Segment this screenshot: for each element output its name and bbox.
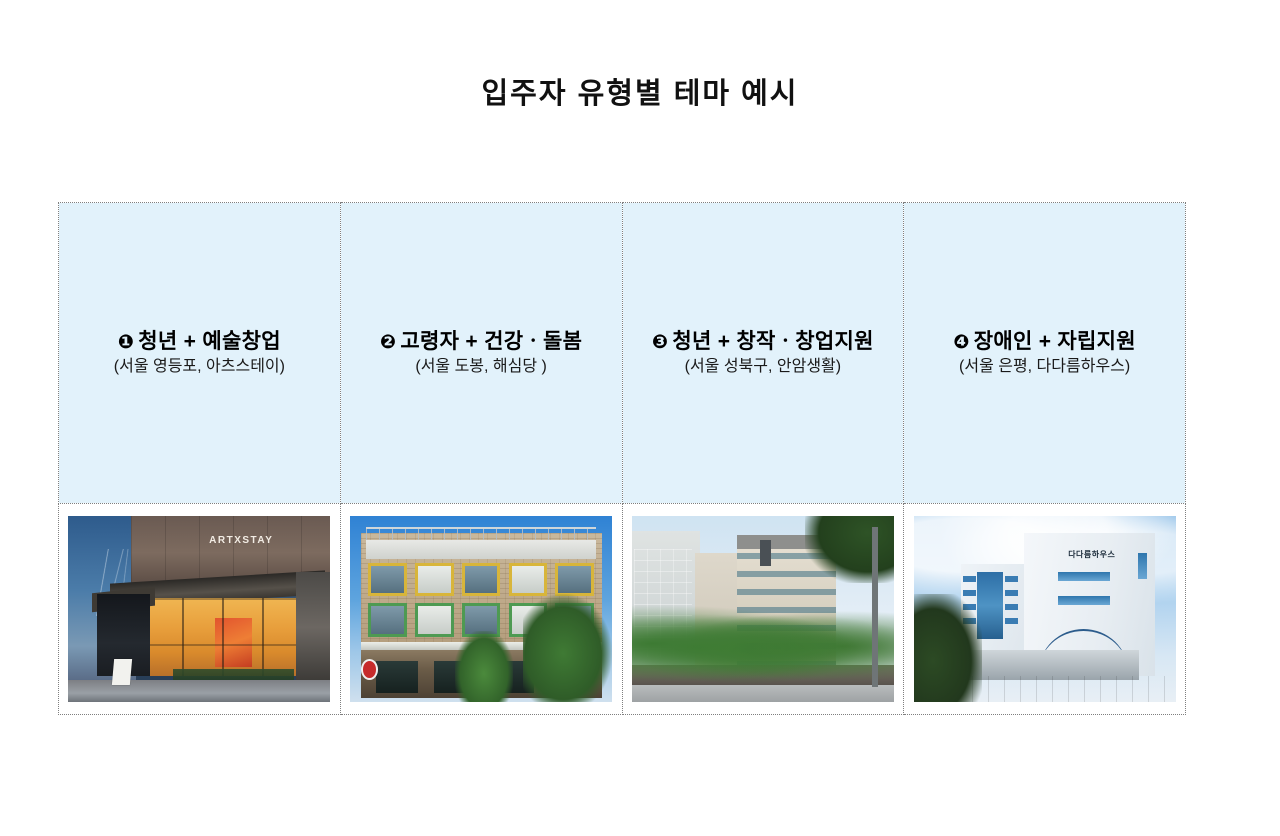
theme-cell-4: ❹장애인 + 자립지원 (서울 은평, 다다름하우스) bbox=[904, 203, 1186, 504]
number-marker-2-icon: ❷ bbox=[380, 332, 396, 353]
photo2-window bbox=[509, 563, 547, 596]
photo-cell-4: 다다름하우스 bbox=[904, 504, 1186, 715]
photo4-vegetation bbox=[914, 594, 982, 702]
theme-content-4: ❹장애인 + 자립지원 (서울 은평, 다다름하우스) bbox=[904, 328, 1185, 379]
photo4-window-slit bbox=[1138, 553, 1147, 579]
theme-title-2: ❷고령자 + 건강ㆍ돌봄 bbox=[380, 330, 582, 353]
photo-row: ARTXSTAY bbox=[59, 504, 1186, 715]
theme-cell-1: ❶청년 + 예술창업 (서울 영등포, 아츠스테이) bbox=[59, 203, 341, 504]
photo2-street-tree bbox=[455, 631, 513, 702]
number-marker-4-icon: ❹ bbox=[953, 332, 969, 353]
theme-location-4: (서울 은평, 다다름하우스) bbox=[959, 358, 1130, 375]
theme-content-2: ❷고령자 + 건강ㆍ돌봄 (서울 도봉, 해심당 ) bbox=[341, 328, 622, 379]
photo2-window-row-upper bbox=[368, 563, 593, 596]
photo2-window bbox=[415, 603, 453, 636]
photo-cell-2 bbox=[340, 504, 622, 715]
photo-cell-3 bbox=[622, 504, 904, 715]
theme-examples-table: ❶청년 + 예술창업 (서울 영등포, 아츠스테이) ❷고령자 + 건강ㆍ돌봄 … bbox=[58, 202, 1186, 715]
photo4-window-slit bbox=[1058, 572, 1110, 581]
building-photo-3 bbox=[632, 516, 894, 702]
photo1-pavement bbox=[68, 680, 330, 702]
theme-title-1: ❶청년 + 예술창업 bbox=[118, 330, 281, 353]
photo3-overhanging-canopy bbox=[805, 516, 894, 583]
photo2-large-tree bbox=[523, 594, 612, 702]
photo2-shop-window bbox=[376, 661, 418, 693]
theme-cell-2: ❷고령자 + 건강ㆍ돌봄 (서울 도봉, 해심당 ) bbox=[340, 203, 622, 504]
building-photo-2 bbox=[350, 516, 612, 702]
photo2-window bbox=[368, 603, 406, 636]
building-photo-4: 다다름하우스 bbox=[914, 516, 1176, 702]
building-photo-1: ARTXSTAY bbox=[68, 516, 330, 702]
photo1-signboard bbox=[112, 659, 133, 685]
photo4-window-slit bbox=[1058, 596, 1110, 605]
theme-heading-2: 고령자 + 건강ㆍ돌봄 bbox=[400, 330, 582, 353]
theme-heading-3: 청년 + 창작ㆍ창업지원 bbox=[672, 330, 873, 353]
theme-location-2: (서울 도봉, 해심당 ) bbox=[415, 358, 546, 375]
photo2-window bbox=[415, 563, 453, 596]
theme-content-1: ❶청년 + 예술창업 (서울 영등포, 아츠스테이) bbox=[59, 328, 340, 379]
page-title: 입주자 유형별 테마 예시 bbox=[0, 70, 1280, 112]
photo3-street-trees bbox=[632, 605, 894, 691]
theme-heading-1: 청년 + 예술창업 bbox=[138, 330, 281, 353]
header-row: ❶청년 + 예술창업 (서울 영등포, 아츠스테이) ❷고령자 + 건강ㆍ돌봄 … bbox=[59, 203, 1186, 504]
number-marker-1-icon: ❶ bbox=[118, 332, 134, 353]
theme-location-1: (서울 영등포, 아츠스테이) bbox=[114, 358, 285, 375]
theme-title-3: ❸청년 + 창작ㆍ창업지원 bbox=[652, 330, 874, 353]
photo2-window bbox=[462, 563, 500, 596]
photo3-street bbox=[632, 685, 894, 702]
theme-cell-3: ❸청년 + 창작ㆍ창업지원 (서울 성북구, 안암생활) bbox=[622, 203, 904, 504]
photo2-window bbox=[555, 563, 593, 596]
photo4-building-logo: 다다름하우스 bbox=[1060, 546, 1123, 563]
photo1-window-mullions bbox=[142, 598, 299, 676]
photo4-window-grid bbox=[1005, 576, 1018, 632]
photo1-building-logo: ARTXSTAY bbox=[184, 529, 299, 551]
photo1-right-wall bbox=[296, 572, 330, 684]
theme-location-3: (서울 성북구, 안암생활) bbox=[685, 358, 841, 375]
photo3-utility-pole bbox=[872, 527, 879, 687]
theme-title-4: ❹장애인 + 자립지원 bbox=[953, 330, 1136, 353]
number-marker-3-icon: ❸ bbox=[652, 332, 668, 353]
photo2-roof-terrace bbox=[366, 540, 597, 559]
photo2-window bbox=[368, 563, 406, 596]
photo2-traffic-sign bbox=[361, 659, 378, 680]
theme-content-3: ❸청년 + 창작ㆍ창업지원 (서울 성북구, 안암생활) bbox=[623, 328, 904, 379]
photo3-vertical-sign bbox=[760, 540, 770, 566]
theme-heading-4: 장애인 + 자립지원 bbox=[974, 330, 1136, 353]
photo-cell-1: ARTXSTAY bbox=[59, 504, 341, 715]
